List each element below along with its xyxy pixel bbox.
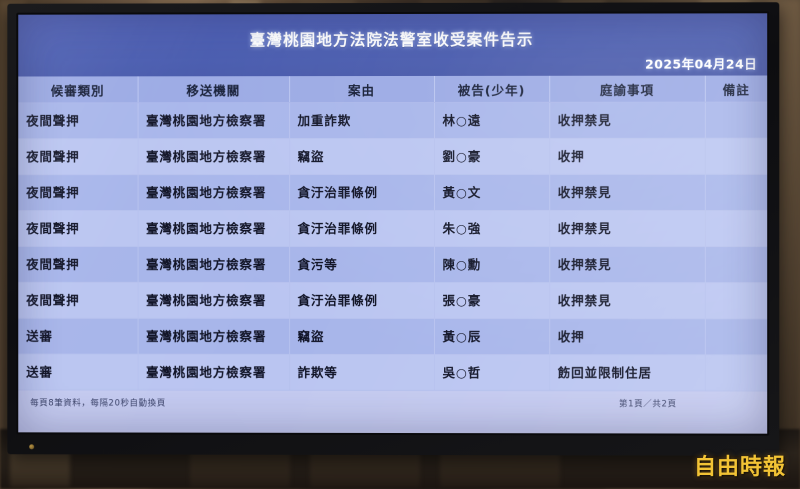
cell-charge: 加重詐欺 xyxy=(289,102,434,138)
cell-ruling: 收押禁見 xyxy=(549,283,705,319)
table-row: 夜間聲押 臺灣桃園地方檢察署 加重詐欺 林○遠 收押禁見 xyxy=(18,102,767,139)
cell-agency: 臺灣桃園地方檢察署 xyxy=(138,354,290,390)
cell-charge: 貪污等 xyxy=(289,246,434,282)
watermark-logo: 自由時報 xyxy=(694,449,786,481)
cell-defendant: 林○遠 xyxy=(434,102,549,138)
cell-remark xyxy=(705,210,767,246)
cell-ruling: 收押 xyxy=(549,319,705,355)
cell-category: 夜間聲押 xyxy=(18,175,137,211)
page-title: 臺灣桃園地方法院法警室收受案件告示 xyxy=(18,27,767,50)
cell-charge: 貪汙治罪條例 xyxy=(289,174,434,210)
cell-remark xyxy=(705,319,767,355)
cell-ruling: 收押禁見 xyxy=(549,102,705,138)
cell-agency: 臺灣桃園地方檢察署 xyxy=(138,318,290,354)
table-head: 候審類別 移送機關 案由 被告(少年) 庭諭事項 備註 xyxy=(18,75,767,102)
photo-scene: 臺灣桃園地方法院法警室收受案件告示 2025年04月24日 候審類別 移送機關 … xyxy=(0,0,800,489)
cell-agency: 臺灣桃園地方檢察署 xyxy=(138,103,290,139)
table-row: 夜間聲押 臺灣桃園地方檢察署 竊盜 劉○豪 收押 xyxy=(18,138,767,174)
cell-agency: 臺灣桃園地方檢察署 xyxy=(138,139,290,175)
cell-ruling: 飭回並限制住居 xyxy=(549,355,705,391)
cell-ruling: 收押禁見 xyxy=(549,174,705,210)
cell-defendant: 黃○辰 xyxy=(434,319,549,355)
cell-ruling: 收押禁見 xyxy=(549,247,705,283)
cell-category: 夜間聲押 xyxy=(18,139,137,175)
display-date: 2025年04月24日 xyxy=(645,53,757,72)
table-row: 夜間聲押 臺灣桃園地方檢察署 貪污等 陳○勳 收押禁見 xyxy=(18,246,767,282)
cell-charge: 貪汙治罪條例 xyxy=(289,282,434,318)
column-header-remark: 備註 xyxy=(705,75,767,102)
cell-remark xyxy=(705,174,767,210)
monitor-frame: 臺灣桃園地方法院法警室收受案件告示 2025年04月24日 候審類別 移送機關 … xyxy=(7,2,779,456)
table-row: 送審 臺灣桃園地方檢察署 詐欺等 吳○哲 飭回並限制住居 xyxy=(18,354,767,391)
cell-charge: 竊盜 xyxy=(289,138,434,174)
column-header-defendant: 被告(少年) xyxy=(434,76,549,103)
cell-defendant: 張○豪 xyxy=(434,283,549,319)
cell-defendant: 劉○豪 xyxy=(434,138,549,174)
cell-remark xyxy=(705,283,767,319)
cell-agency: 臺灣桃園地方檢察署 xyxy=(138,246,290,282)
page-indicator: 第1頁／共2頁 xyxy=(619,397,677,409)
column-header-ruling: 庭諭事項 xyxy=(549,76,705,103)
cell-defendant: 陳○勳 xyxy=(434,247,549,283)
cell-category: 送審 xyxy=(18,318,137,354)
column-header-charge: 案由 xyxy=(289,76,434,103)
title-band: 臺灣桃園地方法院法警室收受案件告示 2025年04月24日 xyxy=(18,13,767,76)
cell-defendant: 朱○強 xyxy=(434,210,549,246)
table-body: 夜間聲押 臺灣桃園地方檢察署 加重詐欺 林○遠 收押禁見 夜間聲押 臺灣桃園地方… xyxy=(18,102,767,391)
column-header-category: 候審類別 xyxy=(18,76,137,103)
cell-category: 送審 xyxy=(18,354,137,390)
table-row: 送審 臺灣桃園地方檢察署 竊盜 黃○辰 收押 xyxy=(18,318,767,355)
cell-agency: 臺灣桃園地方檢察署 xyxy=(138,282,290,318)
cell-charge: 詐欺等 xyxy=(289,354,434,390)
cell-category: 夜間聲押 xyxy=(18,103,137,139)
footer-note: 每頁8筆資料，每隔20秒自動換頁 xyxy=(30,396,166,408)
cell-agency: 臺灣桃園地方檢察署 xyxy=(138,211,290,247)
cell-category: 夜間聲押 xyxy=(18,246,137,282)
cell-defendant: 吳○哲 xyxy=(434,355,549,391)
cell-agency: 臺灣桃園地方檢察署 xyxy=(138,175,290,211)
screen-content: 臺灣桃園地方法院法警室收受案件告示 2025年04月24日 候審類別 移送機關 … xyxy=(18,13,767,433)
table-row: 夜間聲押 臺灣桃園地方檢察署 貪汙治罪條例 黃○文 收押禁見 xyxy=(18,174,767,210)
column-header-agency: 移送機關 xyxy=(138,76,290,103)
cell-charge: 貪汙治罪條例 xyxy=(289,210,434,246)
cell-remark xyxy=(705,247,767,283)
cell-defendant: 黃○文 xyxy=(434,174,549,210)
footer-bar: 每頁8筆資料，每隔20秒自動換頁 第1頁／共2頁 xyxy=(18,390,767,431)
cell-remark xyxy=(705,102,767,138)
cell-category: 夜間聲押 xyxy=(18,211,137,247)
table-header-row: 候審類別 移送機關 案由 被告(少年) 庭諭事項 備註 xyxy=(18,75,767,102)
cell-category: 夜間聲押 xyxy=(18,282,137,318)
cell-ruling: 收押禁見 xyxy=(549,210,705,246)
table-row: 夜間聲押 臺灣桃園地方檢察署 貪汙治罪條例 張○豪 收押禁見 xyxy=(18,282,767,318)
power-led-icon xyxy=(29,444,34,449)
cell-remark xyxy=(705,138,767,174)
case-table: 候審類別 移送機關 案由 被告(少年) 庭諭事項 備註 夜間聲押 臺灣桃園地方檢… xyxy=(18,75,767,391)
cell-charge: 竊盜 xyxy=(289,318,434,354)
cell-remark xyxy=(705,355,767,391)
table-row: 夜間聲押 臺灣桃園地方檢察署 貪汙治罪條例 朱○強 收押禁見 xyxy=(18,210,767,246)
cell-ruling: 收押 xyxy=(549,138,705,174)
